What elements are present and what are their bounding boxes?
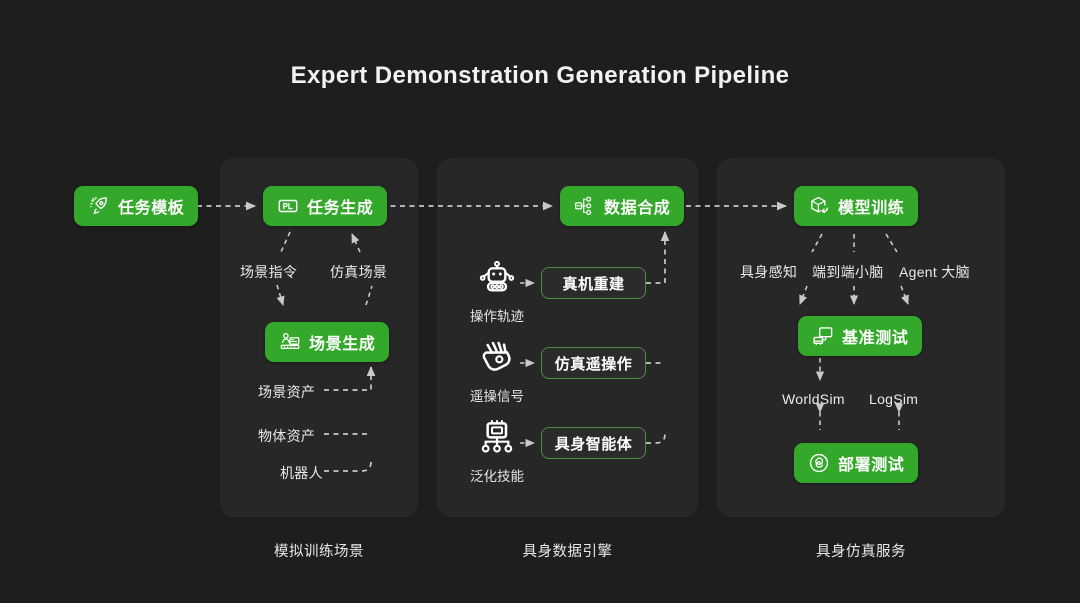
- node-embodied-agent[interactable]: 具身智能体: [541, 427, 646, 459]
- edge-label-scene-instruction: 场景指令: [240, 262, 297, 282]
- chip-network-icon: [477, 419, 517, 459]
- edge-label-worldsim: WorldSim: [782, 391, 845, 407]
- node-model-training[interactable]: 模型训练: [794, 186, 918, 226]
- pl-tag-icon: [277, 195, 299, 217]
- panel-caption-3: 具身仿真服务: [717, 540, 1005, 561]
- node-label: 部署测试: [838, 451, 904, 475]
- data-merge-icon: [574, 195, 596, 217]
- cube-refresh-icon: [808, 195, 830, 217]
- node-task-template[interactable]: 任务模板: [74, 186, 198, 226]
- node-task-generation[interactable]: 任务生成: [263, 186, 387, 226]
- node-deployment-test[interactable]: 部署测试: [794, 443, 918, 483]
- node-label: 仿真遥操作: [555, 353, 633, 374]
- rocket-icon: [88, 195, 110, 217]
- source-caption-2: 遥操信号: [457, 385, 537, 405]
- node-sim-teleoperation[interactable]: 仿真遥操作: [541, 347, 646, 379]
- swirl-circle-icon: [808, 452, 830, 474]
- node-label: 真机重建: [562, 273, 624, 294]
- edge-label-scene-assets: 场景资产: [258, 382, 315, 402]
- scene-person-icon: [279, 331, 301, 353]
- diagram-canvas: Expert Demonstration Generation Pipeline…: [0, 0, 1080, 603]
- edge-label-object-assets: 物体资产: [258, 426, 315, 446]
- robot-icon: [477, 259, 517, 299]
- node-label: 任务模板: [118, 194, 184, 218]
- source-caption-3: 泛化技能: [457, 465, 537, 485]
- node-label: 模型训练: [838, 194, 904, 218]
- page-title: Expert Demonstration Generation Pipeline: [0, 62, 1080, 90]
- node-scene-generation[interactable]: 场景生成: [265, 322, 389, 362]
- node-label: 基准测试: [842, 324, 908, 348]
- panel-caption-2: 具身数据引擎: [437, 540, 698, 561]
- edge-label-robot: 机器人: [280, 463, 323, 483]
- glove-icon: [477, 339, 517, 379]
- monitor-icon: [812, 325, 834, 347]
- node-label: 具身智能体: [555, 433, 633, 454]
- node-label: 场景生成: [309, 330, 375, 354]
- source-caption-1: 操作轨迹: [457, 305, 537, 325]
- node-label: 任务生成: [307, 194, 373, 218]
- edge-label-agent-brain: Agent 大脑: [899, 262, 970, 282]
- node-data-synthesis[interactable]: 数据合成: [560, 186, 684, 226]
- edge-label-logsim: LogSim: [869, 391, 918, 407]
- edge-label-embodied-perception: 具身感知: [740, 262, 797, 282]
- node-benchmark-test[interactable]: 基准测试: [798, 316, 922, 356]
- node-label: 数据合成: [604, 194, 670, 218]
- panel-caption-1: 模拟训练场景: [220, 540, 418, 561]
- edge-label-sim-scene: 仿真场景: [330, 262, 387, 282]
- node-real-machine-reconstruction[interactable]: 真机重建: [541, 267, 646, 299]
- edge-label-end-to-end-cerebellum: 端到端小脑: [812, 262, 884, 282]
